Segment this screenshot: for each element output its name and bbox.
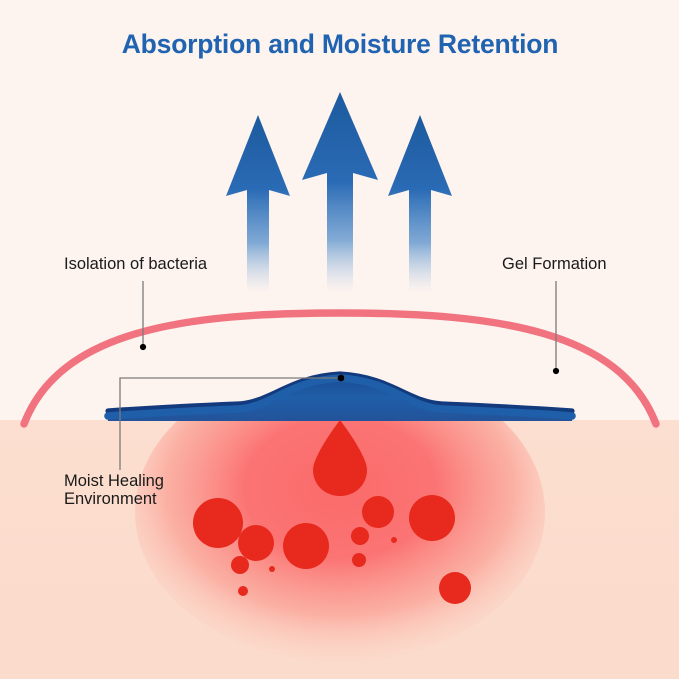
bubble	[231, 556, 249, 574]
bubble	[238, 525, 274, 561]
absorption-arrows	[226, 92, 452, 292]
anchor-dot-moist-healing	[338, 375, 345, 382]
bubble	[283, 523, 329, 569]
anchor-dot-isolation	[140, 344, 146, 350]
label-isolation-of-bacteria: Isolation of bacteria	[64, 255, 208, 273]
label-moist-healing-line2: Environment	[64, 490, 157, 508]
bubble	[238, 586, 248, 596]
absorption-moisture-diagram: Absorption and Moisture Retention Isolat…	[0, 0, 679, 679]
anchor-dot-gel	[553, 368, 559, 374]
bubble	[409, 495, 455, 541]
bubble	[193, 498, 243, 548]
bubble	[269, 566, 275, 572]
bubble	[352, 553, 366, 567]
page-title: Absorption and Moisture Retention	[122, 29, 559, 59]
bubble	[362, 496, 394, 528]
label-gel-formation: Gel Formation	[502, 255, 607, 273]
bubble	[391, 537, 397, 543]
label-moist-healing-line1: Moist Healing	[64, 472, 164, 490]
bubble	[439, 572, 471, 604]
infographic-canvas: Absorption and Moisture Retention Isolat…	[0, 0, 679, 679]
bubble	[351, 527, 369, 545]
